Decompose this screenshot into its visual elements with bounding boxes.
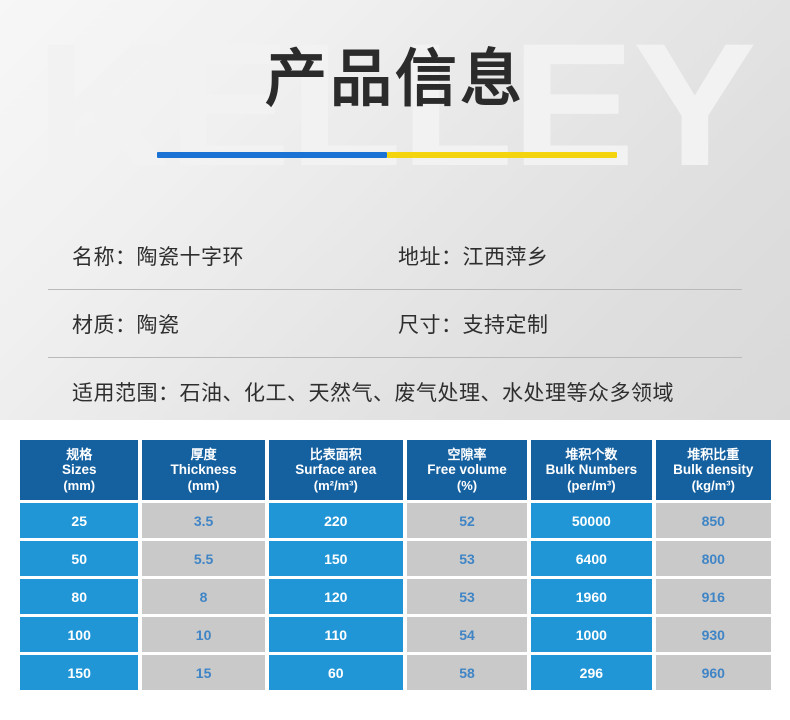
- table-cell-bulk-numbers: 1000: [531, 617, 651, 652]
- table-cell-bulk-numbers: 6400: [531, 541, 651, 576]
- column-header-unit: (mm): [188, 478, 220, 493]
- underline-blue-segment: [157, 152, 387, 158]
- table-cell-size: 150: [20, 655, 138, 690]
- product-info-list: 名称：陶瓷十字环 地址：江西萍乡 材质：陶瓷 尺寸：支持定制 适用范围：石油、化…: [48, 222, 742, 420]
- table-cell-free-volume: 54: [407, 617, 527, 652]
- table-row: 25 3.5 220 52 50000 850: [20, 503, 771, 538]
- table-cell-thickness: 10: [142, 617, 264, 652]
- column-header-cn: 厚度: [191, 447, 217, 462]
- column-header-en: Free volume: [427, 462, 507, 478]
- table-cell-size: 50: [20, 541, 138, 576]
- table-cell-surface-area: 220: [269, 503, 403, 538]
- table-cell-size: 80: [20, 579, 138, 614]
- table-column-header-bulk-density: 堆积比重 Bulk density (kg/m³): [656, 440, 771, 500]
- column-header-cn: 堆积个数: [565, 447, 617, 462]
- info-size-field: 尺寸：支持定制: [396, 309, 742, 339]
- product-info-page: KELLEY 产品信息 名称：陶瓷十字环 地址：江西萍乡 材质：陶瓷 尺寸：支持…: [0, 0, 790, 720]
- table-cell-thickness: 8: [142, 579, 264, 614]
- table-cell-thickness: 15: [142, 655, 264, 690]
- table-row: 150 15 60 58 296 960: [20, 655, 771, 690]
- column-header-unit: (kg/m³): [692, 478, 735, 493]
- info-scope-field: 适用范围：石油、化工、天然气、废气处理、水处理等众多领域: [48, 377, 742, 407]
- table-cell-thickness: 5.5: [142, 541, 264, 576]
- column-header-cn: 比表面积: [310, 447, 362, 462]
- table-row: 50 5.5 150 53 6400 800: [20, 541, 771, 576]
- table-cell-surface-area: 150: [269, 541, 403, 576]
- table-cell-free-volume: 53: [407, 541, 527, 576]
- title-underline: [157, 152, 617, 158]
- column-header-cn: 堆积比重: [687, 447, 739, 462]
- table-column-header-free-volume: 空隙率 Free volume (%): [407, 440, 527, 500]
- column-header-unit: (per/m³): [567, 478, 615, 493]
- table-row: 100 10 110 54 1000 930: [20, 617, 771, 652]
- table-header: 规格 Sizes (mm) 厚度 Thickness (mm) 比表面积 Sur…: [20, 440, 771, 500]
- table-cell-free-volume: 53: [407, 579, 527, 614]
- table-cell-size: 100: [20, 617, 138, 652]
- column-header-cn: 规格: [66, 447, 92, 462]
- table-cell-bulk-density: 850: [656, 503, 771, 538]
- table-cell-surface-area: 60: [269, 655, 403, 690]
- info-address-field: 地址：江西萍乡: [396, 241, 742, 271]
- column-header-en: Bulk density: [673, 462, 753, 478]
- column-header-cn: 空隙率: [447, 447, 486, 462]
- table-cell-free-volume: 58: [407, 655, 527, 690]
- table-cell-thickness: 3.5: [142, 503, 264, 538]
- info-row: 适用范围：石油、化工、天然气、废气处理、水处理等众多领域: [48, 358, 742, 420]
- table-cell-bulk-density: 930: [656, 617, 771, 652]
- table-column-header-thickness: 厚度 Thickness (mm): [142, 440, 264, 500]
- column-header-unit: (mm): [63, 478, 95, 493]
- table-cell-bulk-numbers: 296: [531, 655, 651, 690]
- table-column-header-bulk-numbers: 堆积个数 Bulk Numbers (per/m³): [531, 440, 651, 500]
- info-row: 材质：陶瓷 尺寸：支持定制: [48, 290, 742, 358]
- column-header-unit: (m²/m³): [314, 478, 358, 493]
- table-cell-bulk-density: 800: [656, 541, 771, 576]
- table-body: 25 3.5 220 52 50000 850 50 5.5 150 53 64…: [20, 503, 771, 690]
- table-cell-surface-area: 120: [269, 579, 403, 614]
- table-cell-size: 25: [20, 503, 138, 538]
- column-header-en: Thickness: [171, 462, 237, 478]
- info-row: 名称：陶瓷十字环 地址：江西萍乡: [48, 222, 742, 290]
- page-title: 产品信息: [0, 46, 790, 114]
- table-cell-free-volume: 52: [407, 503, 527, 538]
- table-cell-bulk-density: 960: [656, 655, 771, 690]
- column-header-en: Surface area: [295, 462, 376, 478]
- table-cell-surface-area: 110: [269, 617, 403, 652]
- table-cell-bulk-numbers: 1960: [531, 579, 651, 614]
- column-header-en: Sizes: [62, 462, 97, 478]
- info-name-field: 名称：陶瓷十字环: [48, 241, 396, 271]
- column-header-unit: (%): [457, 478, 477, 493]
- table-header-row: 规格 Sizes (mm) 厚度 Thickness (mm) 比表面积 Sur…: [20, 440, 771, 500]
- specification-table: 规格 Sizes (mm) 厚度 Thickness (mm) 比表面积 Sur…: [20, 440, 771, 690]
- info-material-field: 材质：陶瓷: [48, 309, 396, 339]
- column-header-en: Bulk Numbers: [546, 462, 638, 478]
- table-cell-bulk-density: 916: [656, 579, 771, 614]
- header-banner: KELLEY 产品信息 名称：陶瓷十字环 地址：江西萍乡 材质：陶瓷 尺寸：支持…: [0, 0, 790, 420]
- table-column-header-sizes: 规格 Sizes (mm): [20, 440, 138, 500]
- table-row: 80 8 120 53 1960 916: [20, 579, 771, 614]
- underline-yellow-segment: [387, 152, 617, 158]
- table-cell-bulk-numbers: 50000: [531, 503, 651, 538]
- table-column-header-surface-area: 比表面积 Surface area (m²/m³): [269, 440, 403, 500]
